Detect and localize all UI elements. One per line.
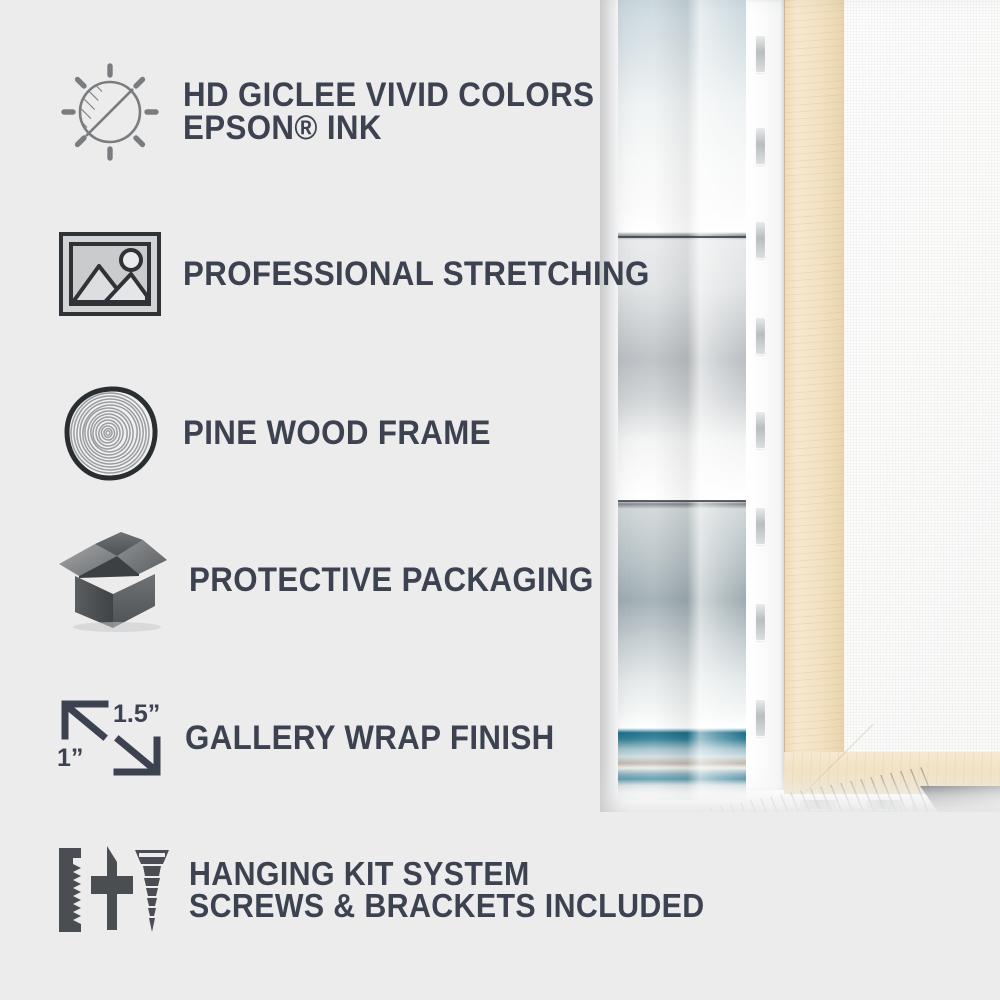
feature-row-protective-packaging: PROTECTIVE PACKAGING [55,528,629,632]
picture-frame-icon [55,228,165,320]
open-box-icon [55,528,171,632]
feature-row-hd-giclee: HD GICLEE VIVID COLORS EPSON® INK [55,58,630,166]
depth-arrows-icon: 1.5” 1” [55,692,167,784]
staple [756,508,765,544]
staple [756,318,765,354]
photo-bottom-fade [600,770,1000,812]
feature-label-line: GALLERY WRAP FINISH [185,722,555,755]
feature-label-line: HANGING KIT SYSTEM [189,858,705,890]
feature-label-line: PROTECTIVE PACKAGING [189,564,594,597]
tree-rings-icon [55,382,165,484]
feature-row-hanging-kit: HANGING KIT SYSTEM SCREWS & BRACKETS INC… [55,842,749,938]
feature-label-protective-packaging: PROTECTIVE PACKAGING [189,564,629,597]
feature-label-pine-wood-frame: PINE WOOD FRAME [183,417,518,450]
wrap-crease [618,500,746,502]
staple [756,700,765,736]
feature-label-line: HD GICLEE VIVID COLORS [183,79,594,112]
staple [756,36,765,72]
feature-label-line: PINE WOOD FRAME [183,417,491,450]
depth-label: 1.5” [113,700,160,728]
staple [756,222,765,258]
feature-label-gallery-wrap: GALLERY WRAP FINISH [185,722,587,755]
feature-label-hd-giclee: HD GICLEE VIVID COLORS EPSON® INK [183,79,630,144]
width-label: 1” [57,744,83,772]
sun-hatched-icon [55,58,165,166]
canvas-wrap-side [746,0,784,790]
art-edge-fold-highlight [618,0,746,800]
feature-row-gallery-wrap: 1.5” 1” GALLERY WRAP FINISH [55,692,587,784]
feature-label-professional-stretching: PROFESSIONAL STRETCHING [183,258,690,291]
staple [756,604,765,640]
feature-label-line: EPSON® INK [183,112,594,145]
canvas-back-panel [844,0,1000,752]
feature-label-line: PROFESSIONAL STRETCHING [183,258,650,291]
canvas-corner-photo [600,0,1000,812]
feature-list: HD GICLEE VIVID COLORS EPSON® INK PROFES… [0,0,620,1000]
pine-stretcher-bar-vertical [784,0,845,752]
hanging-hardware-icon [55,842,171,938]
feature-row-pine-wood-frame: PINE WOOD FRAME [55,382,518,484]
feature-label-line: SCREWS & BRACKETS INCLUDED [189,890,705,922]
staple [756,412,765,448]
feature-label-hanging-kit: HANGING KIT SYSTEM SCREWS & BRACKETS INC… [189,858,749,921]
infographic-canvas: HD GICLEE VIVID COLORS EPSON® INK PROFES… [0,0,1000,1000]
feature-row-professional-stretching: PROFESSIONAL STRETCHING [55,228,690,320]
staple [756,128,765,164]
